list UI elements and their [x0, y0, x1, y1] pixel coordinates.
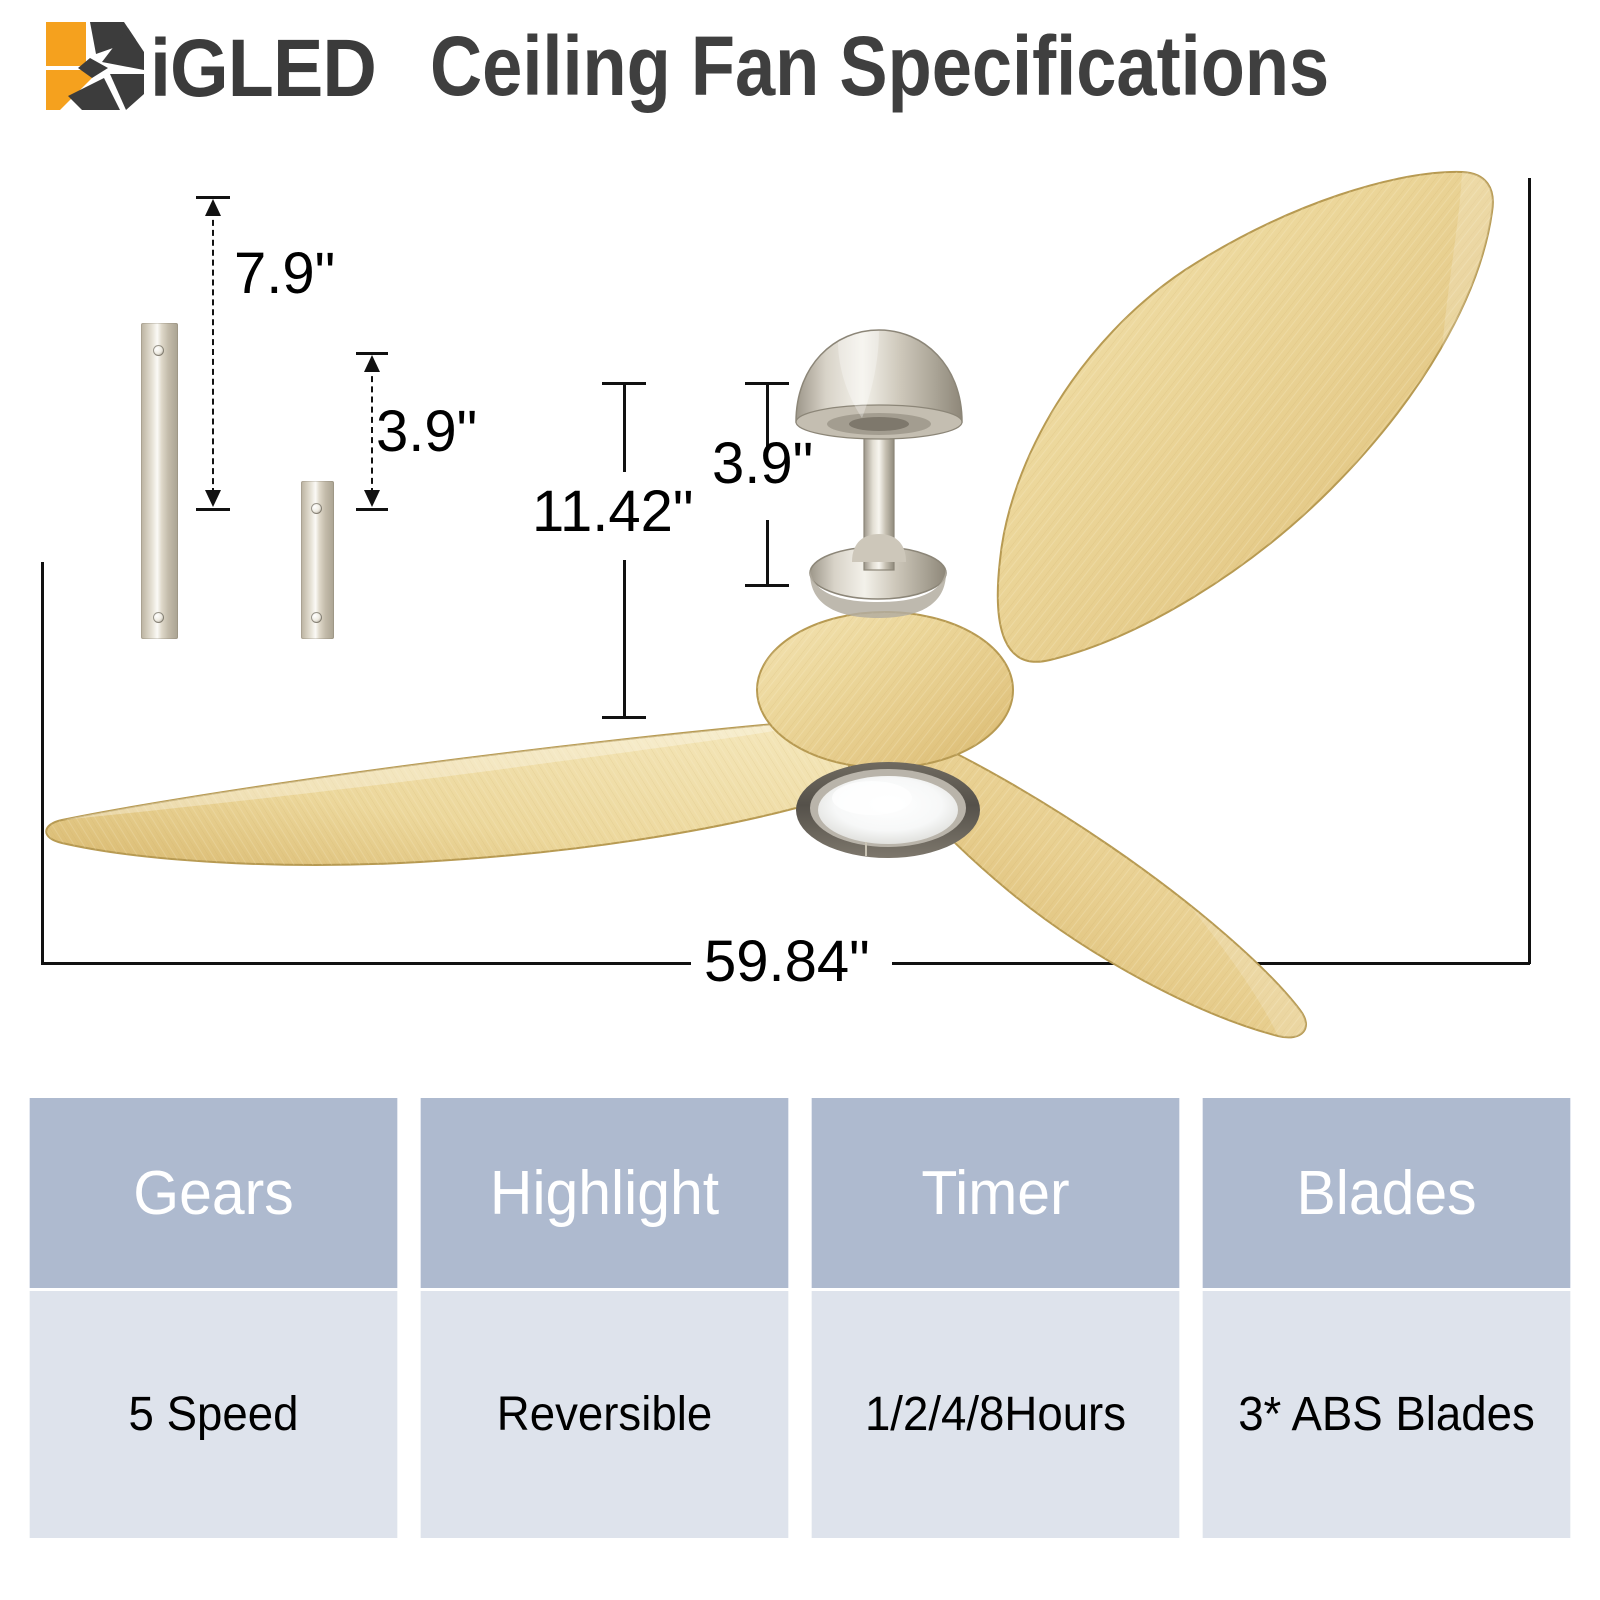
brand-wordmark: iGLED: [150, 22, 376, 116]
spec-value-highlight: Reversible: [421, 1291, 789, 1538]
specification-table: Gears Highlight Timer Blades 5 Speed Rev…: [20, 1098, 1580, 1538]
spec-table-value-row: 5 Speed Reversible 1/2/4/8Hours 3* ABS B…: [20, 1291, 1580, 1538]
ceiling-canopy: [796, 330, 962, 439]
fan-blade-upper-right: [998, 172, 1493, 662]
fan-blade-left: [46, 720, 850, 865]
fan-hub: [757, 612, 1013, 768]
spec-value-blades: 3* ABS Blades: [1203, 1291, 1571, 1538]
spec-table-header-row: Gears Highlight Timer Blades: [20, 1098, 1580, 1288]
spec-value-timer: 1/2/4/8Hours: [812, 1291, 1180, 1538]
fan-dimension-diagram: 7.9" 3.9" 11.42" 3.9" 59.84": [0, 130, 1600, 1060]
spec-header-highlight: Highlight: [421, 1098, 789, 1288]
page-title: Ceiling Fan Specifications: [430, 18, 1329, 115]
spec-header-blades: Blades: [1203, 1098, 1571, 1288]
igled-logo-icon: [40, 18, 152, 114]
spec-header-timer: Timer: [812, 1098, 1180, 1288]
page-header: iGLED Ceiling Fan Specifications: [0, 0, 1600, 130]
spec-value-gears: 5 Speed: [30, 1291, 398, 1538]
ceiling-fan-illustration: [0, 130, 1600, 1060]
product-spec-page: iGLED Ceiling Fan Specifications 7.9" 3.…: [0, 0, 1600, 1600]
fan-downrod: [852, 420, 906, 570]
led-light-kit: [796, 762, 980, 858]
spec-header-gears: Gears: [30, 1098, 398, 1288]
